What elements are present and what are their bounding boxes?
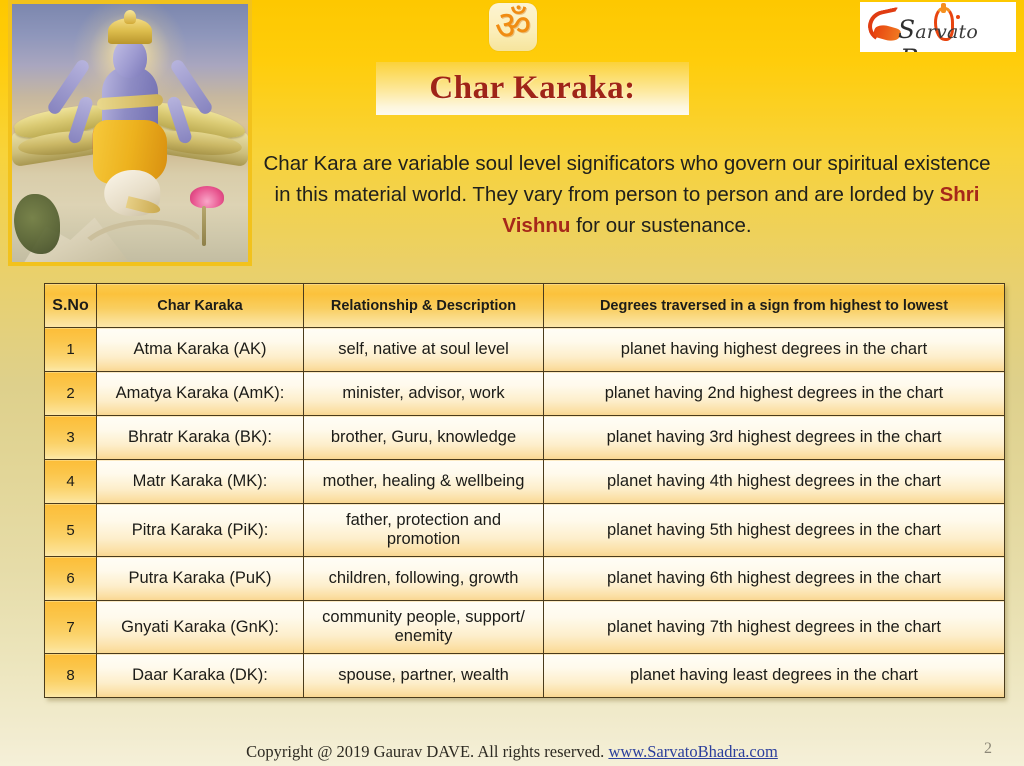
cell-sno: 6 [45, 557, 97, 601]
cell-degrees: planet having 4th highest degrees in the… [544, 460, 1005, 504]
table-row: 2 Amatya Karaka (AmK): minister, advisor… [45, 372, 1005, 416]
description-text-before: Char Kara are variable soul level signif… [264, 152, 991, 206]
om-icon: ॐ [495, 6, 531, 46]
cell-degrees: planet having highest degrees in the cha… [544, 328, 1005, 372]
cell-sno: 4 [45, 460, 97, 504]
page-number: 2 [984, 740, 992, 758]
footer: Copyright @ 2019 Gaurav DAVE. All rights… [0, 742, 1024, 762]
cell-degrees: planet having 3rd highest degrees in the… [544, 416, 1005, 460]
table-row: 6 Putra Karaka (PuK) children, following… [45, 557, 1005, 601]
vishnu-crown-icon [108, 18, 152, 44]
table-row: 8 Daar Karaka (DK): spouse, partner, wea… [45, 654, 1005, 698]
column-header-sno: S.No [45, 284, 97, 328]
cell-degrees: planet having 5th highest degrees in the… [544, 504, 1005, 557]
table-row: 4 Matr Karaka (MK): mother, healing & we… [45, 460, 1005, 504]
cell-relationship: spouse, partner, wealth [304, 654, 544, 698]
column-header-relationship: Relationship & Description [304, 284, 544, 328]
table-body: 1 Atma Karaka (AK) self, native at soul … [45, 328, 1005, 698]
column-header-char-karaka: Char Karaka [97, 284, 304, 328]
logo-wordmark: Sarvato Bhadra [860, 15, 1016, 52]
table-header-row: S.No Char Karaka Relationship & Descript… [45, 284, 1005, 328]
description-paragraph: Char Kara are variable soul level signif… [262, 148, 992, 241]
cell-sno: 1 [45, 328, 97, 372]
char-karaka-table-wrapper: S.No Char Karaka Relationship & Descript… [44, 283, 1004, 698]
char-karaka-table: S.No Char Karaka Relationship & Descript… [44, 283, 1005, 698]
vishnu-garuda-image [8, 0, 252, 266]
cell-degrees: planet having least degrees in the chart [544, 654, 1005, 698]
copyright-text: Copyright @ 2019 Gaurav DAVE. All rights… [246, 742, 604, 761]
cell-degrees: planet having 6th highest degrees in the… [544, 557, 1005, 601]
cell-karaka: Bhratr Karaka (BK): [97, 416, 304, 460]
logo-word2-rest: hadra [919, 50, 976, 52]
cell-relationship: mother, healing & wellbeing [304, 460, 544, 504]
logo-word1-initial: S [898, 15, 915, 44]
title-plate: Char Karaka: [376, 62, 689, 115]
cell-relationship: minister, advisor, work [304, 372, 544, 416]
bush-shape [14, 194, 60, 254]
table-row: 5 Pitra Karaka (PiK): father, protection… [45, 504, 1005, 557]
cell-karaka: Putra Karaka (PuK) [97, 557, 304, 601]
logo-graphics: Sarvato Bhadra [860, 2, 1016, 52]
slide-canvas: ॐ Sarvato Bhadra Char Karaka: Char Kara … [0, 0, 1024, 766]
cell-sno: 3 [45, 416, 97, 460]
cell-degrees: planet having 2nd highest degrees in the… [544, 372, 1005, 416]
logo-word1-rest: arvato [915, 21, 978, 43]
table-row: 3 Bhratr Karaka (BK): brother, Guru, kno… [45, 416, 1005, 460]
website-link[interactable]: www.SarvatoBhadra.com [608, 742, 777, 761]
cell-relationship: self, native at soul level [304, 328, 544, 372]
artwork-background [12, 4, 248, 262]
column-header-degrees: Degrees traversed in a sign from highest… [544, 284, 1005, 328]
cell-sno: 8 [45, 654, 97, 698]
cell-sno: 7 [45, 601, 97, 654]
cell-relationship: father, protection and promotion [304, 504, 544, 557]
cell-degrees: planet having 7th highest degrees in the… [544, 601, 1005, 654]
cell-karaka: Pitra Karaka (PiK): [97, 504, 304, 557]
table-row: 1 Atma Karaka (AK) self, native at soul … [45, 328, 1005, 372]
cell-sno: 5 [45, 504, 97, 557]
cell-relationship: brother, Guru, knowledge [304, 416, 544, 460]
logo-word2-initial: B [900, 44, 919, 52]
cell-relationship: children, following, growth [304, 557, 544, 601]
cell-sno: 2 [45, 372, 97, 416]
sarvato-bhadra-logo: Sarvato Bhadra [860, 2, 1016, 52]
cell-karaka: Atma Karaka (AK) [97, 328, 304, 372]
description-text-after: for our sustenance. [570, 214, 751, 237]
table-header: S.No Char Karaka Relationship & Descript… [45, 284, 1005, 328]
table-row: 7 Gnyati Karaka (GnK): community people,… [45, 601, 1005, 654]
cell-relationship: community people, support/ enemity [304, 601, 544, 654]
cell-karaka: Daar Karaka (DK): [97, 654, 304, 698]
cell-karaka: Matr Karaka (MK): [97, 460, 304, 504]
om-badge: ॐ [489, 3, 537, 51]
lotus-icon [190, 186, 224, 208]
cell-karaka: Amatya Karaka (AmK): [97, 372, 304, 416]
vishnu-head [113, 38, 147, 78]
cell-karaka: Gnyati Karaka (GnK): [97, 601, 304, 654]
page-title: Char Karaka: [429, 70, 635, 107]
